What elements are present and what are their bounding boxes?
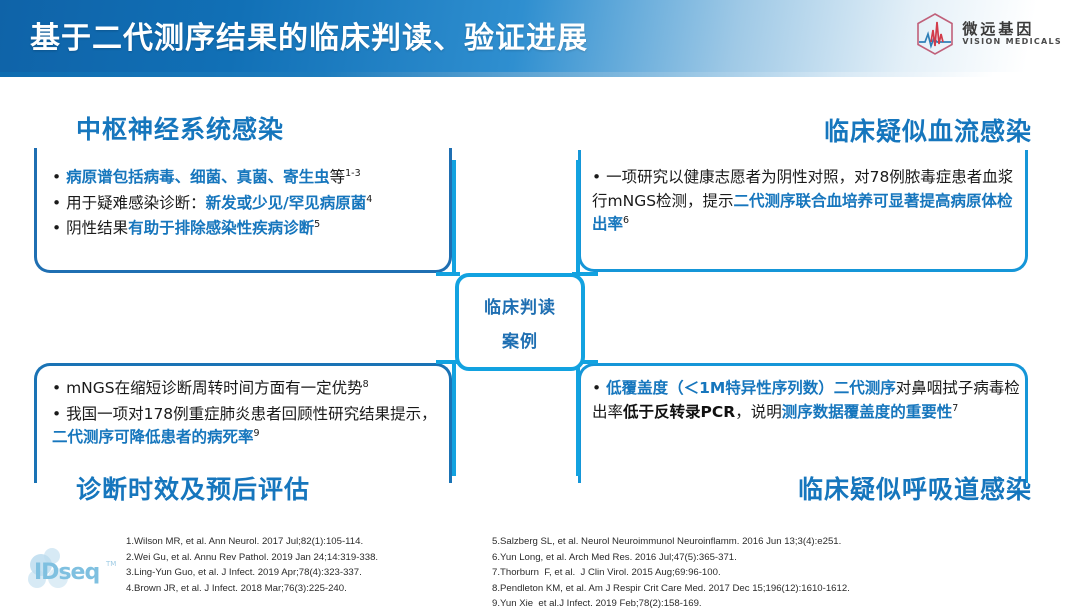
center-node-case-interpretation: 临床判读 案例 [455,273,585,371]
reference-superscript: 8 [363,379,369,390]
hexagon-pulse-icon [915,12,955,56]
bullet-dot: • [52,168,66,186]
bullet-item: • 阴性结果有助于排除感染性疾病诊断5 [52,217,442,241]
bullet-text: 阴性结果 [66,219,128,237]
bullet-text-emphasis: 低覆盖度（＜1M特异性序列数）二代测序 [606,379,896,397]
bullet-text-emphasis: 有助于排除感染性疾病诊断 [128,219,314,237]
bullet-text-emphasis: 病原谱包括病毒、细菌、真菌、寄生虫 [66,168,330,186]
reference-superscript: 4 [366,193,372,204]
connector-bottom-right [576,360,580,476]
connector-bottom-left [452,360,456,476]
brand-logo-text: 微远基因 VISION MEDICALS [962,22,1062,46]
bullet-dot: • [52,194,66,212]
bullet-text: 用于疑难感染诊断： [66,194,206,212]
panel-title-diagnostic-timeliness: 诊断时效及预后评估 [76,470,310,506]
reference-superscript: 1-3 [345,168,361,179]
connector-top-left [452,160,456,276]
bullet-text: ，说明 [735,403,782,421]
references-right: 5.Salzberg SL, et al. Neurol Neuroimmuno… [492,534,850,608]
bullet-dot: • [52,405,66,423]
reference-superscript: 7 [952,402,958,413]
brand-name-cn: 微远基因 [962,22,1062,38]
connector-top-right [576,160,580,276]
bullet-item: • mNGS在缩短诊断周转时间方面有一定优势8 [52,377,444,401]
panel-body-diagnostic-timeliness: • mNGS在缩短诊断周转时间方面有一定优势8• 我国一项对178例重症肺炎患者… [52,377,444,452]
bullet-text-emphasis: 低于反转录PCR [623,403,735,421]
bullet-text: mNGS在缩短诊断周转时间方面有一定优势 [66,379,363,397]
bullet-dot: • [52,219,66,237]
header-divider [0,72,1080,77]
bullet-item: • 用于疑难感染诊断：新发或少见/罕见病原菌4 [52,192,442,216]
brand-logo: 微远基因 VISION MEDICALS [915,12,1062,56]
references-left: 1.Wilson MR, et al. Ann Neurol. 2017 Jul… [126,534,378,596]
bullet-dot: • [592,168,606,186]
panel-title-respiratory-infection: 临床疑似呼吸道感染 [798,470,1032,506]
reference-superscript: 9 [254,428,260,439]
page-title: 基于二代测序结果的临床判读、验证进展 [30,13,588,57]
slide-canvas: 基于二代测序结果的临床判读、验证进展 微远基因 VISION MEDICALS … [0,0,1080,608]
bullet-text-emphasis: 二代测序可降低患者的病死率 [52,428,254,446]
brand-name-en: VISION MEDICALS [962,38,1062,46]
bullet-item: • 病原谱包括病毒、细菌、真菌、寄生虫等1-3 [52,166,442,190]
panel-title-cns-infection: 中枢神经系统感染 [76,110,284,146]
bullet-text: 我国一项对178例重症肺炎患者回顾性研究结果提示， [66,405,437,423]
center-node-line2: 案例 [502,327,538,352]
panel-body-bloodstream-infection: • 一项研究以健康志愿者为阴性对照，对78例脓毒症患者血浆行mNGS检测，提示二… [592,166,1016,239]
connector-hline-top-left [436,272,460,276]
bullet-item: • 低覆盖度（＜1M特异性序列数）二代测序对鼻咽拭子病毒检出率低于反转录PCR，… [592,377,1020,424]
bullet-text: 等 [330,168,346,186]
panel-title-bloodstream-infection: 临床疑似血流感染 [824,112,1032,148]
bullet-text-emphasis: 测序数据覆盖度的重要性 [782,403,953,421]
center-node-line1: 临床判读 [484,293,556,318]
idseq-logo: IDseq TM [28,548,124,596]
idseq-logo-text: IDseq [34,560,99,585]
reference-superscript: 6 [623,215,629,226]
bullet-text-emphasis: 新发或少见/罕见病原菌 [206,194,367,212]
bullet-item: • 我国一项对178例重症肺炎患者回顾性研究结果提示，二代测序可降低患者的病死率… [52,403,444,450]
panel-body-cns-infection: • 病原谱包括病毒、细菌、真菌、寄生虫等1-3• 用于疑难感染诊断：新发或少见/… [52,166,442,243]
bullet-dot: • [52,379,66,397]
idseq-logo-tm: TM [106,560,116,568]
bullet-item: • 一项研究以健康志愿者为阴性对照，对78例脓毒症患者血浆行mNGS检测，提示二… [592,166,1016,237]
panel-body-respiratory-infection: • 低覆盖度（＜1M特异性序列数）二代测序对鼻咽拭子病毒检出率低于反转录PCR，… [592,377,1020,426]
reference-superscript: 5 [314,219,320,230]
bullet-dot: • [592,379,606,397]
